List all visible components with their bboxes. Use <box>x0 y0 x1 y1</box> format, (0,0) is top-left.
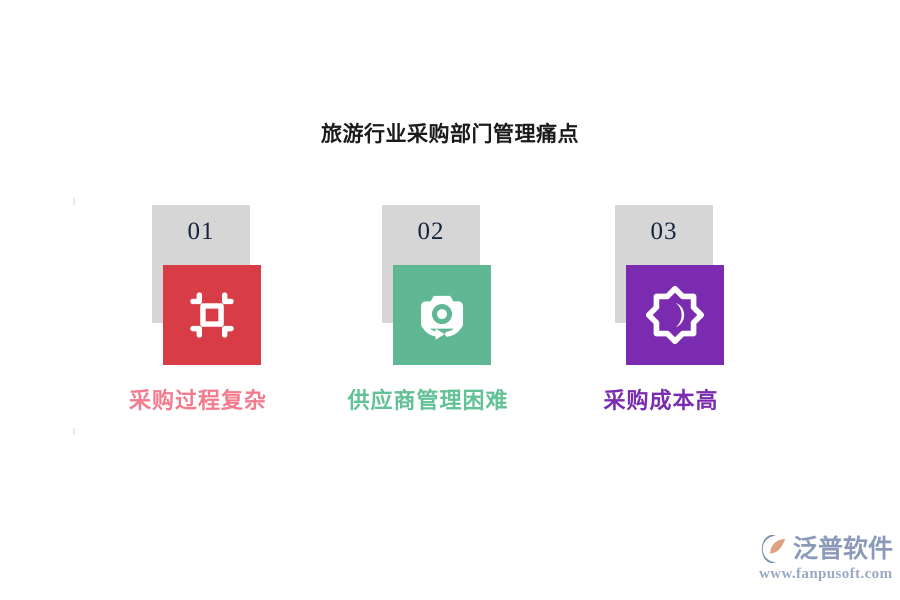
page-title: 旅游行业采购部门管理痛点 <box>0 118 900 148</box>
card-number-label: 03 <box>615 218 713 246</box>
card-caption-label: 采购过程复杂 <box>68 383 328 415</box>
card-icon-tile[interactable] <box>626 265 724 365</box>
watermark-brand-row: 泛普软件 <box>757 534 893 564</box>
pain-point-card-01[interactable]: 01 采购过程复杂 <box>88 205 308 420</box>
slide-canvas: 旅游行业采购部门管理痛点 01 <box>0 0 900 600</box>
card-caption-label: 供应商管理困难 <box>298 383 558 415</box>
card-icon-tile[interactable] <box>163 265 261 365</box>
watermark-logo: 泛普软件 www.fanpusoft.com <box>757 534 893 590</box>
fanpu-logo-icon <box>757 534 789 564</box>
watermark-brand-text: 泛普软件 <box>793 534 893 564</box>
card-number-label: 02 <box>382 218 480 246</box>
card-caption-label: 采购成本高 <box>531 383 791 415</box>
crop-frame-icon <box>183 286 241 344</box>
card-number-label: 01 <box>152 218 250 246</box>
pain-point-card-03[interactable]: 03 采购成本高 <box>551 205 771 420</box>
pain-point-card-list: 01 采购过程复杂 <box>0 205 900 425</box>
watermark-url-text: www.fanpusoft.com <box>759 566 892 583</box>
camera-rotate-icon <box>411 285 473 345</box>
edge-artifact-top <box>73 198 75 205</box>
edge-artifact-bottom <box>73 428 75 435</box>
star-moon-icon <box>645 285 705 345</box>
card-icon-tile[interactable] <box>393 265 491 365</box>
pain-point-card-02[interactable]: 02 供应商管理 <box>318 205 538 420</box>
